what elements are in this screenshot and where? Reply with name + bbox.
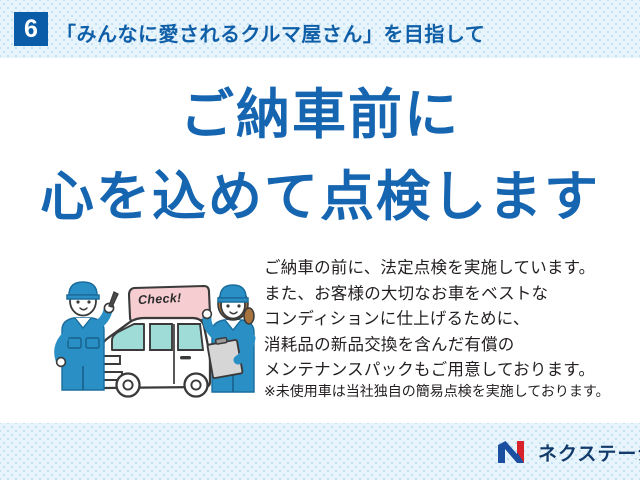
body-line-4: 消耗品の新品交換を含んだ有償の	[264, 333, 628, 359]
body-line-5: メンテナンスパックもご用意しております。	[264, 358, 628, 384]
body-line-3: コンディションに仕上げるために、	[264, 307, 628, 333]
brand-logo: ネクステージ	[497, 438, 640, 466]
body-copy: ご納車の前に、法定点検を実施しています。 また、お客様の大切なお車をベストな コ…	[264, 256, 628, 384]
mechanics-inspection-illustration	[52, 268, 260, 400]
brand-name: ネクステージ	[538, 439, 640, 466]
header-title: 「みんなに愛されるクルマ屋さん」を目指して	[56, 18, 485, 47]
body-line-1: ご納車の前に、法定点検を実施しています。	[264, 256, 628, 282]
step-number-badge: 6	[14, 12, 48, 46]
body-note: ※未使用車は当社独自の簡易点検を実施しております。	[264, 381, 636, 401]
body-line-2: また、お客様の大切なお車をベストな	[264, 282, 628, 308]
headline-line-1: ご納車前に	[0, 86, 640, 144]
nextage-n-mark-icon	[497, 440, 531, 464]
headline-line-2: 心を込めて点検します	[0, 168, 640, 226]
advertisement-page: 6 「みんなに愛されるクルマ屋さん」を目指して ご納車前に 心を込めて点検します	[0, 0, 640, 480]
van-illustration	[100, 318, 210, 397]
